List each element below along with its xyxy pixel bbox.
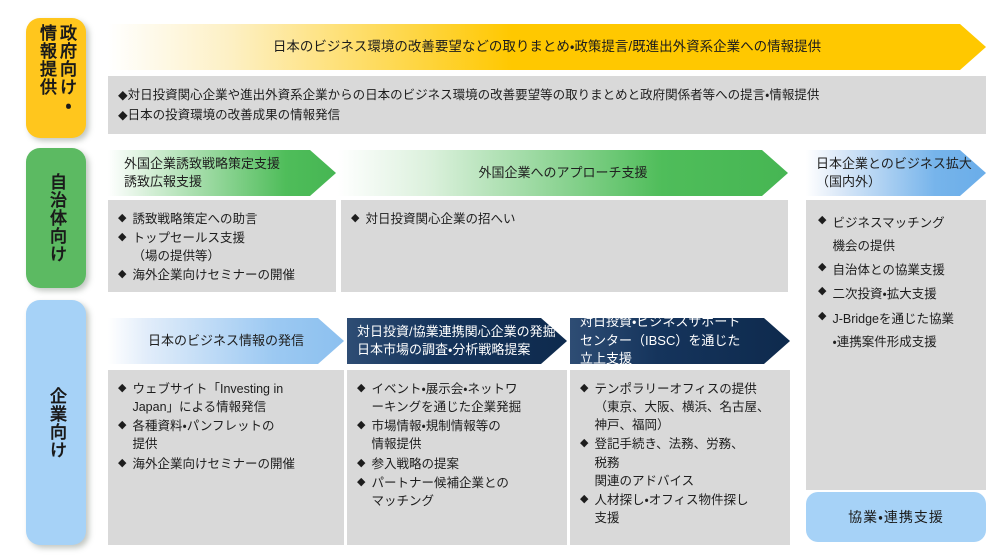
corporate-arrow-2-label: 対日投資/協業連携関心企業の発掘 日本市場の調査・分析戦略提案 bbox=[357, 323, 556, 360]
expansion-panel-list: ◆ビジネスマッチング 機会の提供 ◆自治体との協業支援 ◆二次投資・拡大支援 ◆… bbox=[818, 212, 978, 354]
list-item-label: J-Bridgeを通じた協業 ・連携案件形成支援 bbox=[832, 308, 954, 354]
expansion-panel: ◆ビジネスマッチング 機会の提供 ◆自治体との協業支援 ◆二次投資・拡大支援 ◆… bbox=[806, 200, 986, 490]
government-detail-panel: ◆対日投資関心企業や進出外資系企業からの日本のビジネス環境の改善要望等の取りまと… bbox=[108, 76, 986, 134]
government-banner-label: 日本のビジネス環境の改善要望などの取りまとめ・政策提言/既進出外資系企業への情報… bbox=[273, 37, 821, 56]
list-item: ◆ビジネスマッチング 機会の提供 bbox=[818, 212, 978, 258]
bullet-diamond-icon: ◆ bbox=[818, 259, 826, 277]
category-label-municipality: 自治体向け bbox=[46, 173, 66, 263]
corporate-panel-1: ◆ウェブサイト「Investing in Japan」による情報発信 ◆各種資料… bbox=[108, 370, 344, 545]
list-item-label: 参入戦略の提案 bbox=[371, 455, 459, 473]
corporate-panel-2: ◆イベント・展示会・ネットワ ーキングを通じた企業発掘 ◆市場情報・規制情報等の… bbox=[347, 370, 567, 545]
corporate-arrow-1-label: 日本のビジネス情報の発信 bbox=[148, 332, 304, 350]
list-item: ◆人材探し・オフィス物件探し 支援 bbox=[580, 491, 782, 527]
list-item-label: 自治体との協業支援 bbox=[832, 259, 944, 282]
government-detail-line-2: ◆日本の投資環境の改善成果の情報発信 bbox=[118, 105, 976, 125]
list-item-label: 登記手続き、法務、労務、 税務 関連のアドバイス bbox=[594, 435, 743, 489]
corporate-panel-1-list: ◆ウェブサイト「Investing in Japan」による情報発信 ◆各種資料… bbox=[118, 380, 336, 473]
list-item: ◆パートナー候補企業との マッチング bbox=[357, 474, 559, 510]
list-item: ◆ウェブサイト「Investing in Japan」による情報発信 bbox=[118, 380, 336, 416]
bullet-diamond-icon: ◆ bbox=[357, 380, 365, 398]
expansion-arrow-business-growth: 日本企業とのビジネス拡大 （国内外） bbox=[806, 150, 986, 196]
category-pill-corporate: 企業向け bbox=[26, 300, 86, 545]
list-item: ◆市場情報・規制情報等の 情報提供 bbox=[357, 417, 559, 453]
list-item-label: 各種資料・パンフレットの 提供 bbox=[132, 417, 274, 453]
bullet-diamond-icon: ◆ bbox=[580, 380, 588, 398]
bullet-diamond-icon: ◆ bbox=[357, 417, 365, 435]
list-item: ◆登記手続き、法務、労務、 税務 関連のアドバイス bbox=[580, 435, 782, 489]
list-item-label: 人材探し・オフィス物件探し 支援 bbox=[594, 491, 748, 527]
list-item-label: ウェブサイト「Investing in Japan」による情報発信 bbox=[132, 380, 283, 416]
corporate-panel-3: ◆テンポラリーオフィスの提供 （東京、大阪、横浜、名古屋、 神戸、福岡） ◆登記… bbox=[570, 370, 790, 545]
list-item-label: 二次投資・拡大支援 bbox=[832, 283, 936, 306]
category-label-government-primary: 政府向け・ bbox=[56, 24, 76, 114]
municipality-arrow-1-label: 外国企業誘致戦略策定支援 誘致広報支援 bbox=[124, 155, 280, 192]
bullet-diamond-icon: ◆ bbox=[118, 266, 126, 284]
list-item: ◆参入戦略の提案 bbox=[357, 455, 559, 473]
government-banner-arrow: 日本のビジネス環境の改善要望などの取りまとめ・政策提言/既進出外資系企業への情報… bbox=[108, 24, 986, 70]
municipality-panel-2-list: ◆対日投資関心企業の招へい bbox=[351, 210, 780, 228]
corporate-panel-2-list: ◆イベント・展示会・ネットワ ーキングを通じた企業発掘 ◆市場情報・規制情報等の… bbox=[357, 380, 559, 510]
expansion-arrow-label: 日本企業とのビジネス拡大 （国内外） bbox=[816, 155, 972, 192]
list-item-label: 海外企業向けセミナーの開催 bbox=[132, 266, 295, 284]
bullet-diamond-icon: ◆ bbox=[118, 417, 126, 435]
list-item-label: 海外企業向けセミナーの開催 bbox=[132, 455, 295, 473]
bullet-diamond-icon: ◆ bbox=[580, 435, 588, 453]
bullet-diamond-icon: ◆ bbox=[580, 491, 588, 509]
category-pill-government: 政府向け・ 情報提供 bbox=[26, 18, 86, 138]
list-item: ◆自治体との協業支援 bbox=[818, 259, 978, 282]
corporate-arrow-prospecting: 対日投資/協業連携関心企業の発掘 日本市場の調査・分析戦略提案 bbox=[347, 318, 567, 364]
list-item: ◆イベント・展示会・ネットワ ーキングを通じた企業発掘 bbox=[357, 380, 559, 416]
bullet-diamond-icon: ◆ bbox=[818, 283, 826, 301]
bullet-diamond-icon: ◆ bbox=[118, 380, 126, 398]
municipality-arrow-strategy-support: 外国企業誘致戦略策定支援 誘致広報支援 bbox=[108, 150, 336, 196]
municipality-panel-2: ◆対日投資関心企業の招へい bbox=[341, 200, 788, 292]
bullet-diamond-icon: ◆ bbox=[118, 455, 126, 473]
category-label-corporate: 企業向け bbox=[46, 387, 66, 459]
list-item-label: トップセールス支援 （場の提供等） bbox=[132, 229, 245, 265]
bullet-diamond-icon: ◆ bbox=[351, 210, 359, 228]
collaboration-support-pill: 協業・連携支援 bbox=[806, 492, 986, 542]
list-item: ◆誘致戦略策定への助言 bbox=[118, 210, 328, 228]
bullet-diamond-icon: ◆ bbox=[357, 455, 365, 473]
list-item: ◆テンポラリーオフィスの提供 （東京、大阪、横浜、名古屋、 神戸、福岡） bbox=[580, 380, 782, 434]
municipality-panel-1-list: ◆誘致戦略策定への助言 ◆トップセールス支援 （場の提供等） ◆海外企業向けセミ… bbox=[118, 210, 328, 285]
category-label-government-secondary: 情報提供 bbox=[36, 24, 56, 96]
corporate-arrow-information-dissemination: 日本のビジネス情報の発信 bbox=[108, 318, 344, 364]
list-item: ◆対日投資関心企業の招へい bbox=[351, 210, 780, 228]
bullet-diamond-icon: ◆ bbox=[818, 308, 826, 326]
list-item-label: テンポラリーオフィスの提供 （東京、大阪、横浜、名古屋、 神戸、福岡） bbox=[594, 380, 769, 434]
list-item: ◆二次投資・拡大支援 bbox=[818, 283, 978, 306]
category-pill-municipality: 自治体向け bbox=[26, 148, 86, 288]
list-item-label: 対日投資関心企業の招へい bbox=[365, 210, 515, 228]
bullet-diamond-icon: ◆ bbox=[818, 212, 826, 230]
list-item-label: イベント・展示会・ネットワ ーキングを通じた企業発掘 bbox=[371, 380, 521, 416]
list-item-label: ビジネスマッチング 機会の提供 bbox=[832, 212, 944, 258]
municipality-arrow-2-label: 外国企業へのアプローチ支援 bbox=[478, 164, 647, 182]
list-item-label: 市場情報・規制情報等の 情報提供 bbox=[371, 417, 500, 453]
corporate-panel-3-list: ◆テンポラリーオフィスの提供 （東京、大阪、横浜、名古屋、 神戸、福岡） ◆登記… bbox=[580, 380, 782, 527]
diagram-canvas: 政府向け・ 情報提供 自治体向け 企業向け 日本のビジネス環境の改善要望などの取… bbox=[0, 0, 1000, 560]
list-item: ◆J-Bridgeを通じた協業 ・連携案件形成支援 bbox=[818, 308, 978, 354]
corporate-arrow-3-label: 対日投資・ビジネスサポート センター（IBSC）を通じた 立上支援 bbox=[580, 313, 740, 368]
list-item: ◆トップセールス支援 （場の提供等） bbox=[118, 229, 328, 265]
list-item-label: パートナー候補企業との マッチング bbox=[371, 474, 508, 510]
bullet-diamond-icon: ◆ bbox=[357, 474, 365, 492]
government-detail-line-1: ◆対日投資関心企業や進出外資系企業からの日本のビジネス環境の改善要望等の取りまと… bbox=[118, 85, 976, 105]
list-item-label: 誘致戦略策定への助言 bbox=[132, 210, 257, 228]
list-item: ◆各種資料・パンフレットの 提供 bbox=[118, 417, 336, 453]
municipality-panel-1: ◆誘致戦略策定への助言 ◆トップセールス支援 （場の提供等） ◆海外企業向けセミ… bbox=[108, 200, 336, 292]
municipality-arrow-approach-support: 外国企業へのアプローチ支援 bbox=[338, 150, 788, 196]
bullet-diamond-icon: ◆ bbox=[118, 210, 126, 228]
collaboration-support-label: 協業・連携支援 bbox=[848, 507, 944, 527]
bullet-diamond-icon: ◆ bbox=[118, 229, 126, 247]
corporate-arrow-ibsc-setup: 対日投資・ビジネスサポート センター（IBSC）を通じた 立上支援 bbox=[570, 318, 790, 364]
list-item: ◆海外企業向けセミナーの開催 bbox=[118, 455, 336, 473]
list-item: ◆海外企業向けセミナーの開催 bbox=[118, 266, 328, 284]
